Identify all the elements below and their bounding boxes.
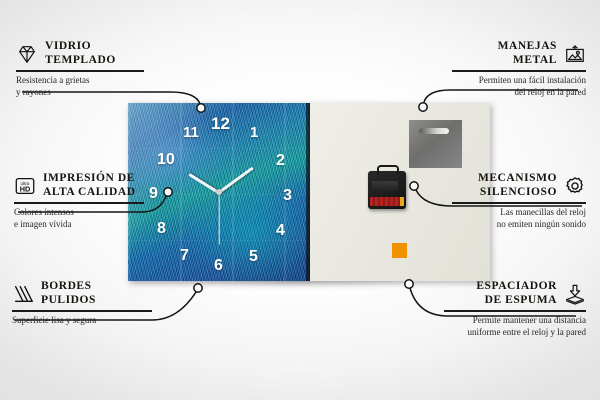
hanger-slot: [419, 128, 449, 134]
callout-title: Espaciador de espuma: [476, 280, 557, 307]
callout-espaciador-espuma: Espaciador de espuma Permite mantener un…: [444, 280, 586, 338]
clock-second-hand: [218, 193, 219, 245]
mechanism-body-detail: [372, 181, 398, 191]
infographic-canvas: 12 1 2 3 4 5 6 7 8 9 10 11: [0, 0, 600, 400]
clock-numeral-6: 6: [214, 258, 223, 274]
callout-rule: [16, 70, 144, 72]
callout-subtitle: Colores intensos e imagen vívida: [14, 207, 144, 231]
clock-face-panel: 12 1 2 3 4 5 6 7 8 9 10 11: [128, 103, 310, 281]
callout-mecanismo-silencioso: Mecanismo silencioso Las manecillas del …: [452, 172, 586, 230]
callout-manejas-metal: Manejas metal Permiten una fácil instala…: [452, 40, 586, 98]
mechanism-label-strip: [370, 197, 404, 206]
gear-icon: [564, 175, 586, 197]
clock-numeral-4: 4: [276, 223, 285, 239]
clock-numeral-9: 9: [149, 186, 158, 202]
callout-title: Vidrio templado: [45, 40, 116, 67]
callout-rule: [12, 310, 152, 312]
clock-center-cap: [216, 189, 222, 195]
foam-spacer-square: [392, 243, 407, 258]
ultra-hd-icon: ultra HD: [14, 175, 36, 197]
mechanism-hang-tab: [377, 165, 399, 175]
metal-hanger-plate: [409, 120, 462, 168]
svg-text:HD: HD: [20, 184, 31, 193]
picture-frame-icon: [564, 43, 586, 65]
callout-impresion-alta-calidad: ultra HD Impresión de alta calidad Color…: [14, 172, 144, 230]
clock-minute-hand: [218, 167, 254, 194]
diamond-icon: [16, 43, 38, 65]
clock-numeral-12: 12: [211, 115, 230, 132]
clock-numeral-11: 11: [183, 125, 199, 140]
clock-numeral-1: 1: [250, 125, 258, 140]
clock-numeral-3: 3: [283, 188, 292, 204]
clock-numeral-10: 10: [157, 152, 175, 168]
callout-subtitle: Permiten una fácil instalación del reloj…: [452, 75, 586, 99]
callout-vidrio-templado: Vidrio templado Resistencia a grietas y …: [16, 40, 144, 98]
foam-spacer-icon: [564, 283, 586, 305]
product-image: 12 1 2 3 4 5 6 7 8 9 10 11: [128, 103, 490, 281]
mechanism-label-accent: [400, 197, 404, 206]
callout-subtitle: Las manecillas del reloj no emiten ningú…: [452, 207, 586, 231]
callout-rule: [452, 70, 586, 72]
callout-rule: [452, 202, 586, 204]
callout-subtitle: Permite mantener una distancia uniforme …: [444, 315, 586, 339]
callout-subtitle: Resistencia a grietas y rayones: [16, 75, 144, 99]
callout-title: Mecanismo silencioso: [478, 172, 557, 199]
polished-edges-icon: [12, 283, 34, 305]
callout-title: Manejas metal: [498, 40, 557, 67]
callout-subtitle: Superficie lisa y segura: [12, 315, 152, 327]
callout-rule: [444, 310, 586, 312]
quartz-mechanism-box: [368, 171, 406, 209]
callout-rule: [14, 202, 144, 204]
callout-title: Bordes pulidos: [41, 280, 96, 307]
clock-numeral-2: 2: [276, 153, 285, 169]
callout-bordes-pulidos: Bordes pulidos Superficie lisa y segura: [12, 280, 152, 327]
clock-numeral-5: 5: [249, 249, 258, 265]
clock-numeral-8: 8: [157, 221, 166, 237]
clock-numeral-7: 7: [180, 248, 189, 264]
callout-title: Impresión de alta calidad: [43, 172, 136, 199]
